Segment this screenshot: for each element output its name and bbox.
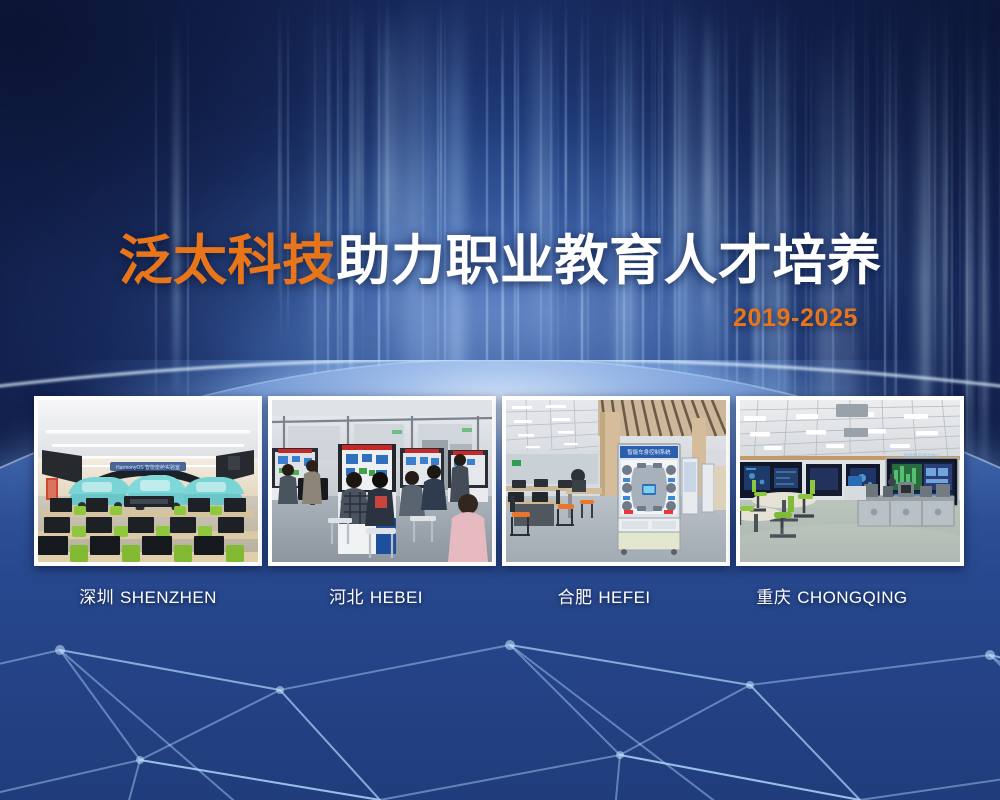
photo-gallery: HarmonyOS 智能座舱实验室 bbox=[34, 396, 964, 566]
svg-text:智能制造展示中心: 智能制造展示中心 bbox=[904, 452, 941, 459]
photo-hebei bbox=[272, 400, 492, 562]
caption-cn-hefei: 合肥 bbox=[558, 588, 593, 607]
photo-chongqing: 智能制造展示中心 bbox=[740, 400, 960, 562]
svg-text:智能车身控制系统: 智能车身控制系统 bbox=[627, 448, 671, 456]
caption-chongqing: 重庆CHONGQING bbox=[718, 583, 946, 613]
svg-text:HarmonyOS 智能座舱实验室: HarmonyOS 智能座舱实验室 bbox=[116, 464, 180, 471]
caption-shenzhen: 深圳SHENZHEN bbox=[34, 583, 262, 613]
caption-en-chongqing: CHONGQING bbox=[797, 588, 907, 607]
gallery-item-chongqing[interactable]: 智能制造展示中心 bbox=[736, 396, 964, 566]
promo-banner: 泛太科技助力职业教育人才培养 2019-2025 bbox=[0, 0, 1000, 800]
gallery-item-hebei[interactable] bbox=[268, 396, 496, 566]
caption-hefei: 合肥HEFEI bbox=[490, 583, 718, 613]
caption-cn-hebei: 河北 bbox=[329, 588, 364, 607]
caption-cn-shenzhen: 深圳 bbox=[79, 588, 114, 607]
photo-shenzhen: HarmonyOS 智能座舱实验室 bbox=[38, 400, 258, 562]
caption-en-hefei: HEFEI bbox=[598, 588, 650, 607]
caption-en-shenzhen: SHENZHEN bbox=[120, 588, 217, 607]
photo-hefei: 智能车身控制系统 bbox=[506, 400, 726, 562]
title-tagline: 助力职业教育人才培养 bbox=[337, 231, 882, 291]
title-block: 泛太科技助力职业教育人才培养 2019-2025 bbox=[0, 232, 1000, 333]
caption-hebei: 河北HEBEI bbox=[262, 583, 490, 613]
photo-captions: 深圳SHENZHEN 河北HEBEI 合肥HEFEI 重庆CHONGQING bbox=[34, 583, 964, 613]
page-title: 泛太科技助力职业教育人才培养 bbox=[0, 232, 1000, 290]
caption-en-hebei: HEBEI bbox=[370, 588, 423, 607]
caption-cn-chongqing: 重庆 bbox=[756, 588, 791, 607]
gallery-item-hefei[interactable]: 智能车身控制系统 bbox=[502, 396, 730, 566]
year-range: 2019-2025 bbox=[0, 304, 1000, 333]
brand-name: 泛太科技 bbox=[119, 231, 337, 291]
gallery-item-shenzhen[interactable]: HarmonyOS 智能座舱实验室 bbox=[34, 396, 262, 566]
